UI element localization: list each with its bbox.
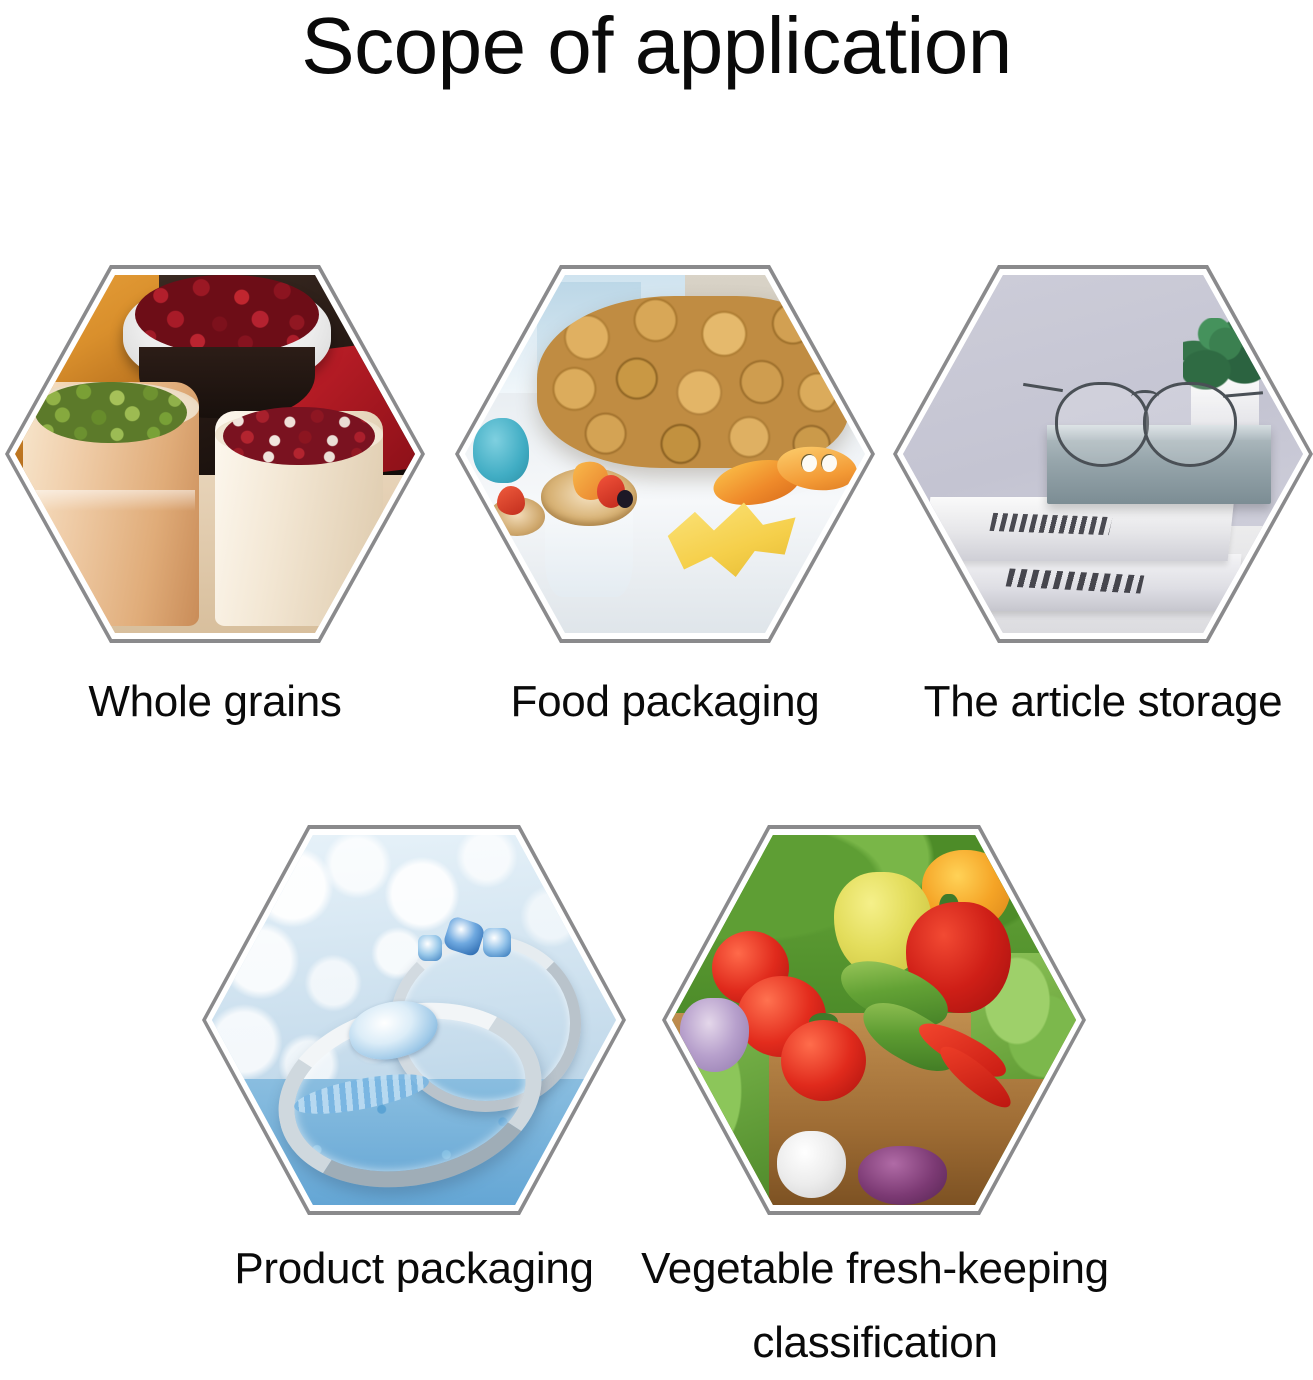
label-the-article-storage: The article storage [893, 665, 1313, 739]
label-food-packaging: Food packaging [455, 665, 875, 739]
hexagon-tile-product-packaging[interactable] [202, 825, 626, 1215]
label-line-1: Vegetable fresh-keeping [640, 1232, 1110, 1306]
hexagon-tile-the-article-storage[interactable] [893, 265, 1313, 643]
label-whole-grains: Whole grains [5, 665, 425, 739]
label-line-2: classification [640, 1306, 1110, 1380]
label-product-packaging: Product packaging [202, 1232, 626, 1306]
application-scope-grid: Whole grains [0, 0, 1313, 1366]
hexagon-tile-whole-grains[interactable] [5, 265, 425, 643]
hexagon-tile-food-packaging[interactable] [455, 265, 875, 643]
hexagon-tile-vegetable-fresh-keeping[interactable] [662, 825, 1086, 1215]
label-vegetable-fresh-keeping: Vegetable fresh-keeping classification [640, 1232, 1110, 1380]
